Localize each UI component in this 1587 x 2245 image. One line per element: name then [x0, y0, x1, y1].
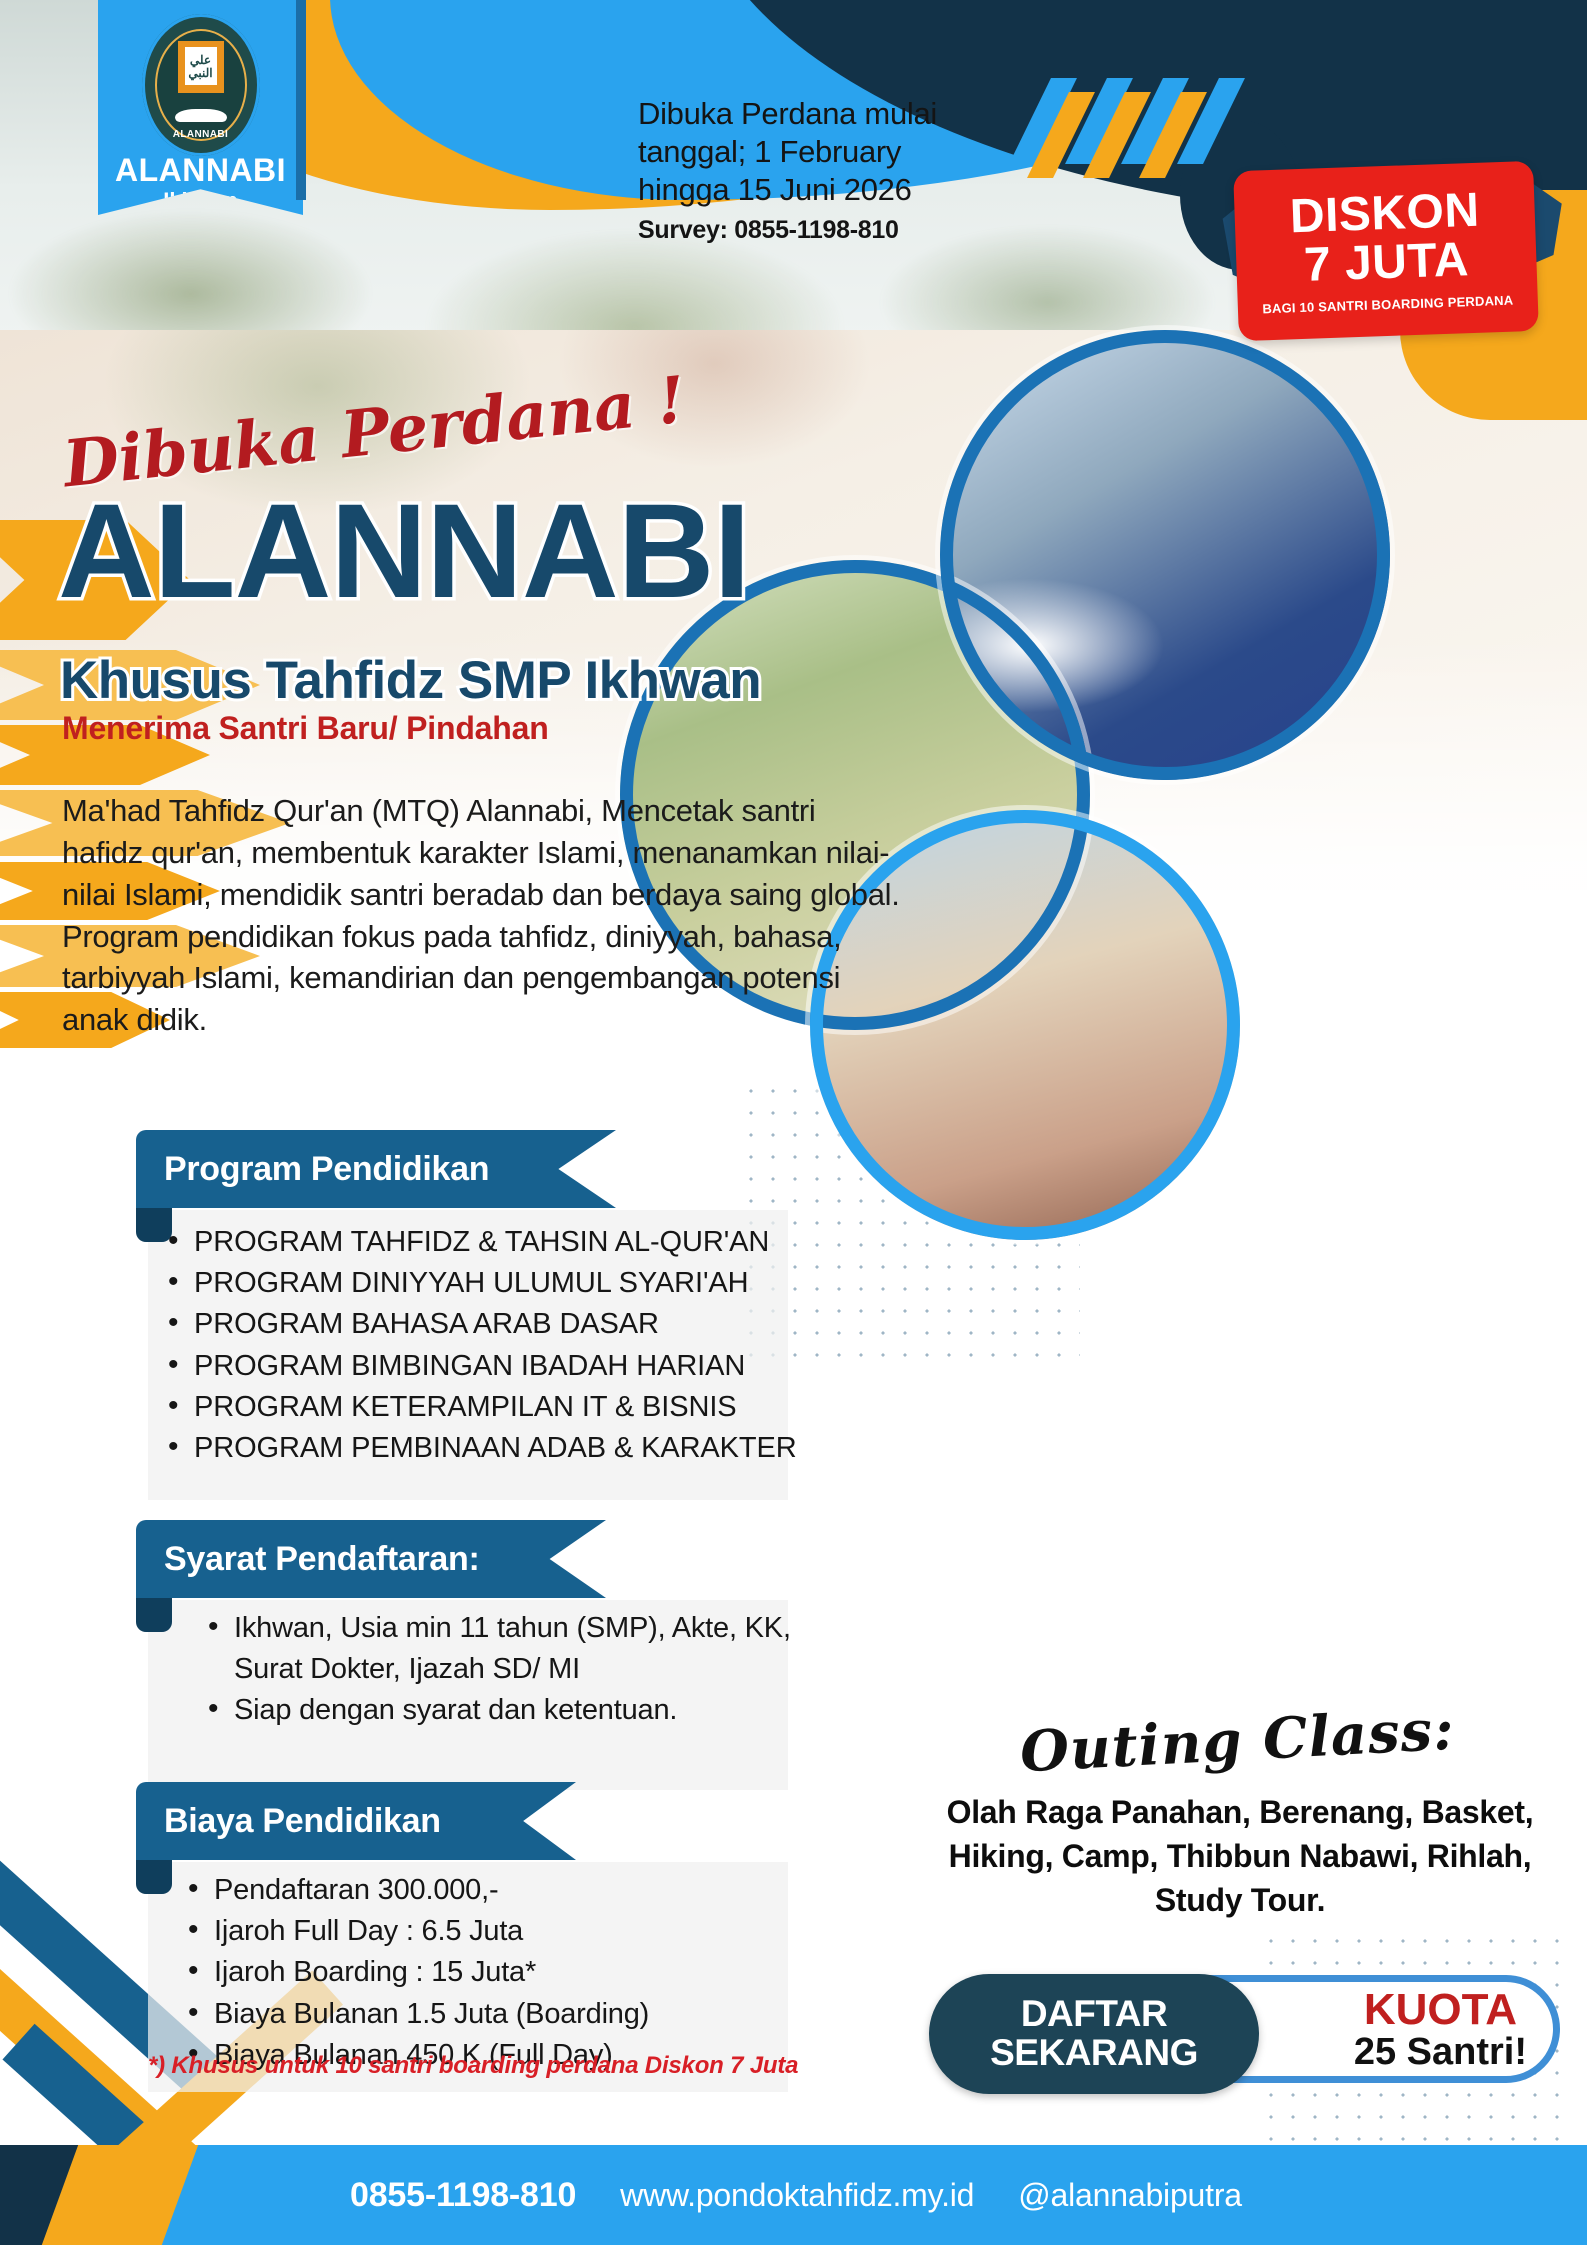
- footer-website[interactable]: www.pondoktahfidz.my.id: [620, 2177, 974, 2214]
- cta-line-2: SEKARANG: [990, 2034, 1198, 2073]
- footer-phone[interactable]: 0855-1198-810: [350, 2176, 576, 2215]
- announcement-line-1: Dibuka Perdana mulai: [638, 95, 937, 133]
- hero-subtitle: Khusus Tahfidz SMP Ikhwan: [60, 650, 761, 711]
- footer-bar: 0855-1198-810 www.pondoktahfidz.my.id @a…: [0, 2145, 1587, 2245]
- outing-class-heading: Outing Class:: [1019, 1697, 1457, 1786]
- announcement-block: Dibuka Perdana mulai tanggal; 1 February…: [638, 95, 937, 246]
- program-list-item: PROGRAM PEMBINAAN ADAB & KARAKTER: [160, 1428, 880, 1469]
- kuota-value: 25 Santri!: [1354, 2032, 1527, 2074]
- program-list-item: PROGRAM TAHFIDZ & TAHSIN AL-QUR'AN: [160, 1222, 880, 1263]
- logo-ribbon-edge: [296, 0, 306, 200]
- alannabi-seal-icon: علي النبي ALANNABI: [142, 14, 260, 156]
- section-heading-biaya: Biaya Pendidikan: [136, 1782, 576, 1860]
- cta-container[interactable]: DAFTAR SEKARANG KUOTA 25 Santri!: [940, 1975, 1560, 2083]
- photo-circle-ring-1: [940, 330, 1390, 780]
- discount-amount: 7 JUTA: [1303, 235, 1469, 291]
- syarat-list: Ikhwan, Usia min 11 tahun (SMP), Akte, K…: [200, 1608, 860, 1732]
- footer-instagram[interactable]: @alannabiputra: [1018, 2177, 1242, 2214]
- section-heading-syarat: Syarat Pendaftaran:: [136, 1520, 606, 1598]
- biaya-list-item: Ijaroh Full Day : 6.5 Juta: [180, 1911, 880, 1952]
- biaya-list-item: Ijaroh Boarding : 15 Juta*: [180, 1952, 880, 1993]
- syarat-flag-tail: [136, 1598, 172, 1632]
- intro-paragraph: Ma'had Tahfidz Qur'an (MTQ) Alannabi, Me…: [62, 790, 902, 1041]
- program-list-item: PROGRAM BIMBINGAN IBADAH HARIAN: [160, 1346, 880, 1387]
- discount-card: DISKON 7 JUTA BAGI 10 SANTRI BOARDING PE…: [1233, 161, 1539, 341]
- section-heading-program: Program Pendidikan: [136, 1130, 616, 1208]
- biaya-list-item: Pendaftaran 300.000,-: [180, 1870, 880, 1911]
- announcement-line-2: tanggal; 1 February: [638, 133, 937, 171]
- syarat-list-item: Ikhwan, Usia min 11 tahun (SMP), Akte, K…: [200, 1608, 860, 1690]
- seal-center-arabic: علي النبي: [181, 54, 221, 79]
- biaya-footnote: *) Khusus untuk 10 santri boarding perda…: [148, 2052, 798, 2080]
- hero-tagline: Menerima Santri Baru/ Pindahan: [62, 710, 549, 747]
- syarat-heading-label: Syarat Pendaftaran:: [164, 1540, 480, 1579]
- intro-paragraph-line: Program pendidikan fokus pada tahfidz, d…: [62, 916, 902, 1042]
- biaya-heading-label: Biaya Pendidikan: [164, 1802, 441, 1841]
- program-list-item: PROGRAM BAHASA ARAB DASAR: [160, 1304, 880, 1345]
- syarat-list-item: Siap dengan syarat dan ketentuan.: [200, 1690, 860, 1731]
- program-list-item: PROGRAM DINIYYAH ULUMUL SYARI'AH: [160, 1263, 880, 1304]
- discount-condition: BAGI 10 SANTRI BOARDING PERDANA: [1262, 292, 1513, 316]
- biaya-list-item: Biaya Bulanan 1.5 Juta (Boarding): [180, 1994, 880, 2035]
- biaya-flag-tail: [136, 1860, 172, 1894]
- intro-paragraph-line: Ma'had Tahfidz Qur'an (MTQ) Alannabi, Me…: [62, 790, 902, 916]
- discount-badge: DISKON 7 JUTA BAGI 10 SANTRI BOARDING PE…: [1228, 160, 1558, 350]
- survey-contact: Survey: 0855-1198-810: [638, 215, 937, 246]
- program-list: PROGRAM TAHFIDZ & TAHSIN AL-QUR'ANPROGRA…: [160, 1222, 880, 1469]
- announcement-line-3: hingga 15 Juni 2026: [638, 171, 937, 209]
- logo-ribbon: علي النبي ALANNABI ALANNABI Ikhwan: [98, 0, 303, 215]
- seal-label: ALANNABI: [142, 129, 260, 140]
- program-list-item: PROGRAM KETERAMPILAN IT & BISNIS: [160, 1387, 880, 1428]
- outing-class-body: Olah Raga Panahan, Berenang, Basket, Hik…: [920, 1790, 1560, 1922]
- daftar-sekarang-button[interactable]: DAFTAR SEKARANG: [929, 1974, 1259, 2094]
- cta-line-1: DAFTAR: [1021, 1995, 1167, 2034]
- poster-root: علي النبي ALANNABI ALANNABI Ikhwan Dibuk…: [0, 0, 1587, 2245]
- kuota-label: KUOTA: [1354, 1988, 1527, 2032]
- logo-title: ALANNABI: [98, 152, 303, 189]
- kuota-block: KUOTA 25 Santri!: [1354, 1988, 1527, 2074]
- biaya-list: Pendaftaran 300.000,-Ijaroh Full Day : 6…: [180, 1870, 880, 2076]
- program-heading-label: Program Pendidikan: [164, 1150, 489, 1189]
- page-title: ALANNABI: [58, 485, 750, 619]
